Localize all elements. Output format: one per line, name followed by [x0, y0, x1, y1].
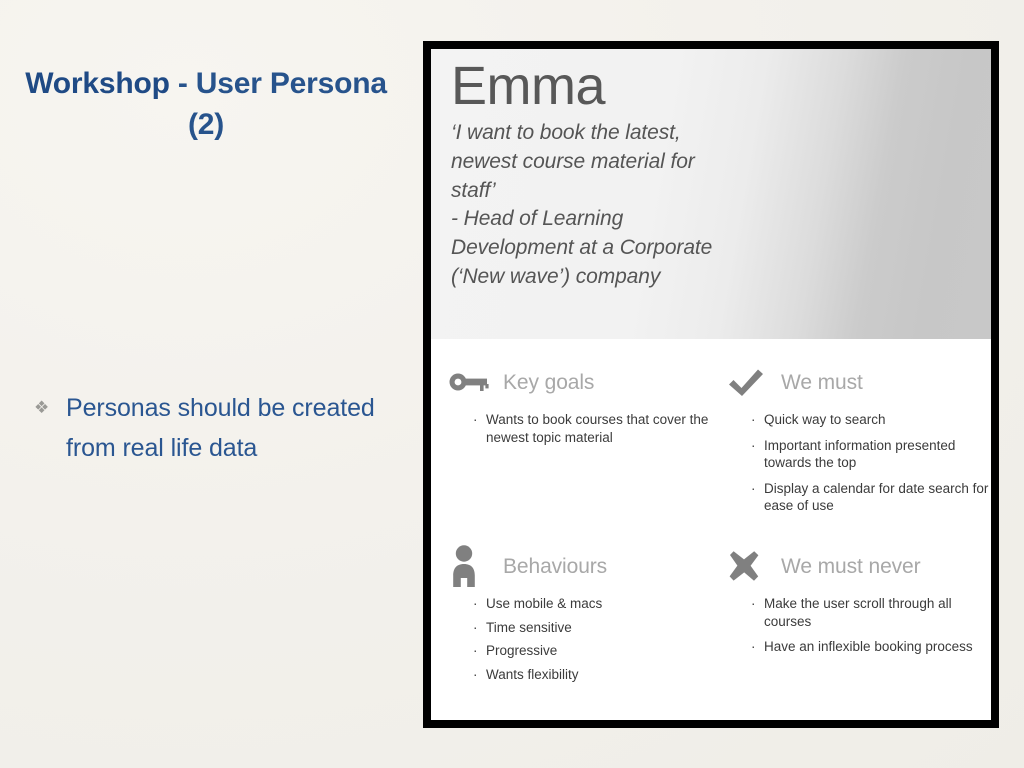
cross-icon — [727, 549, 767, 583]
quadrant-title: Key goals — [503, 370, 594, 395]
bullet-dot-icon: · — [473, 666, 486, 684]
slide-bullet-text: Personas should be created from real lif… — [66, 388, 416, 468]
quadrant-item-text: Important information presented towards … — [764, 437, 990, 472]
quadrant-header: We must — [727, 365, 999, 399]
persona-name: Emma — [451, 55, 973, 117]
page-title-rest: - User Persona (2) — [170, 67, 387, 141]
list-item: ❖ Personas should be created from real l… — [26, 388, 416, 468]
list-item: · Use mobile & macs — [473, 595, 731, 613]
key-icon — [449, 365, 489, 399]
bullet-dot-icon: · — [473, 595, 486, 613]
list-item: · Progressive — [473, 642, 731, 660]
quadrant-item-text: Use mobile & macs — [486, 595, 712, 613]
list-item: · Time sensitive — [473, 619, 731, 637]
quadrant-we-must-never: We must never · Make the user scroll thr… — [727, 549, 999, 664]
slide-canvas: Workshop - User Persona (2) ❖ Personas s… — [0, 0, 1024, 768]
quadrant-item-text: Quick way to search — [764, 411, 990, 429]
quadrant-item-text: Display a calendar for date search for e… — [764, 480, 990, 515]
quadrant-title: We must — [781, 370, 863, 395]
quadrant-item-text: Time sensitive — [486, 619, 712, 637]
slide-bullet-list: ❖ Personas should be created from real l… — [26, 388, 416, 468]
quadrant-item-text: Wants to book courses that cover the new… — [486, 411, 712, 446]
bullet-dot-icon: · — [751, 480, 764, 515]
persona-card: Emma ‘I want to book the latest, newest … — [423, 41, 999, 728]
bullet-dot-icon: · — [473, 619, 486, 637]
quadrant-item-list: · Make the user scroll through all cours… — [727, 595, 999, 656]
quadrant-item-list: · Wants to book courses that cover the n… — [449, 411, 731, 446]
bullet-dot-icon: · — [751, 638, 764, 656]
quadrant-item-list: · Quick way to search · Important inform… — [727, 411, 999, 515]
bullet-dot-icon: · — [473, 411, 486, 446]
bullet-dot-icon: · — [751, 595, 764, 630]
quadrant-item-list: · Use mobile & macs · Time sensitive · P… — [449, 595, 731, 683]
quadrant-header: We must never — [727, 549, 999, 583]
quadrant-item-text: Make the user scroll through all courses — [764, 595, 990, 630]
list-item: · Quick way to search — [751, 411, 999, 429]
checkmark-icon — [727, 365, 767, 399]
quadrant-header: Key goals — [449, 365, 731, 399]
list-item: · Make the user scroll through all cours… — [751, 595, 999, 630]
quadrant-item-text: Progressive — [486, 642, 712, 660]
floret-bullet-icon: ❖ — [26, 388, 66, 428]
slide-left-column: Workshop - User Persona (2) ❖ Personas s… — [0, 0, 412, 768]
page-title-bold: Workshop — [25, 67, 170, 100]
person-icon — [449, 549, 489, 583]
quadrant-title: We must never — [781, 554, 921, 579]
quadrant-key-goals: Key goals · Wants to book courses that c… — [449, 365, 731, 454]
persona-quote: ‘I want to book the latest, newest cours… — [451, 119, 731, 292]
list-item: · Wants to book courses that cover the n… — [473, 411, 731, 446]
bullet-dot-icon: · — [751, 411, 764, 429]
quadrant-header: Behaviours — [449, 549, 731, 583]
list-item: · Important information presented toward… — [751, 437, 999, 472]
list-item: · Have an inflexible booking process — [751, 638, 999, 656]
quadrant-behaviours: Behaviours · Use mobile & macs · Time se… — [449, 549, 731, 689]
bullet-dot-icon: · — [751, 437, 764, 472]
list-item: · Display a calendar for date search for… — [751, 480, 999, 515]
quadrant-title: Behaviours — [503, 554, 607, 579]
persona-card-body: Key goals · Wants to book courses that c… — [431, 339, 991, 720]
quadrant-item-text: Have an inflexible booking process — [764, 638, 990, 656]
quadrant-item-text: Wants flexibility — [486, 666, 712, 684]
list-item: · Wants flexibility — [473, 666, 731, 684]
persona-card-header: Emma ‘I want to book the latest, newest … — [431, 49, 991, 339]
page-title: Workshop - User Persona (2) — [16, 63, 396, 145]
bullet-dot-icon: · — [473, 642, 486, 660]
quadrant-we-must: We must · Quick way to search · Importan… — [727, 365, 999, 523]
